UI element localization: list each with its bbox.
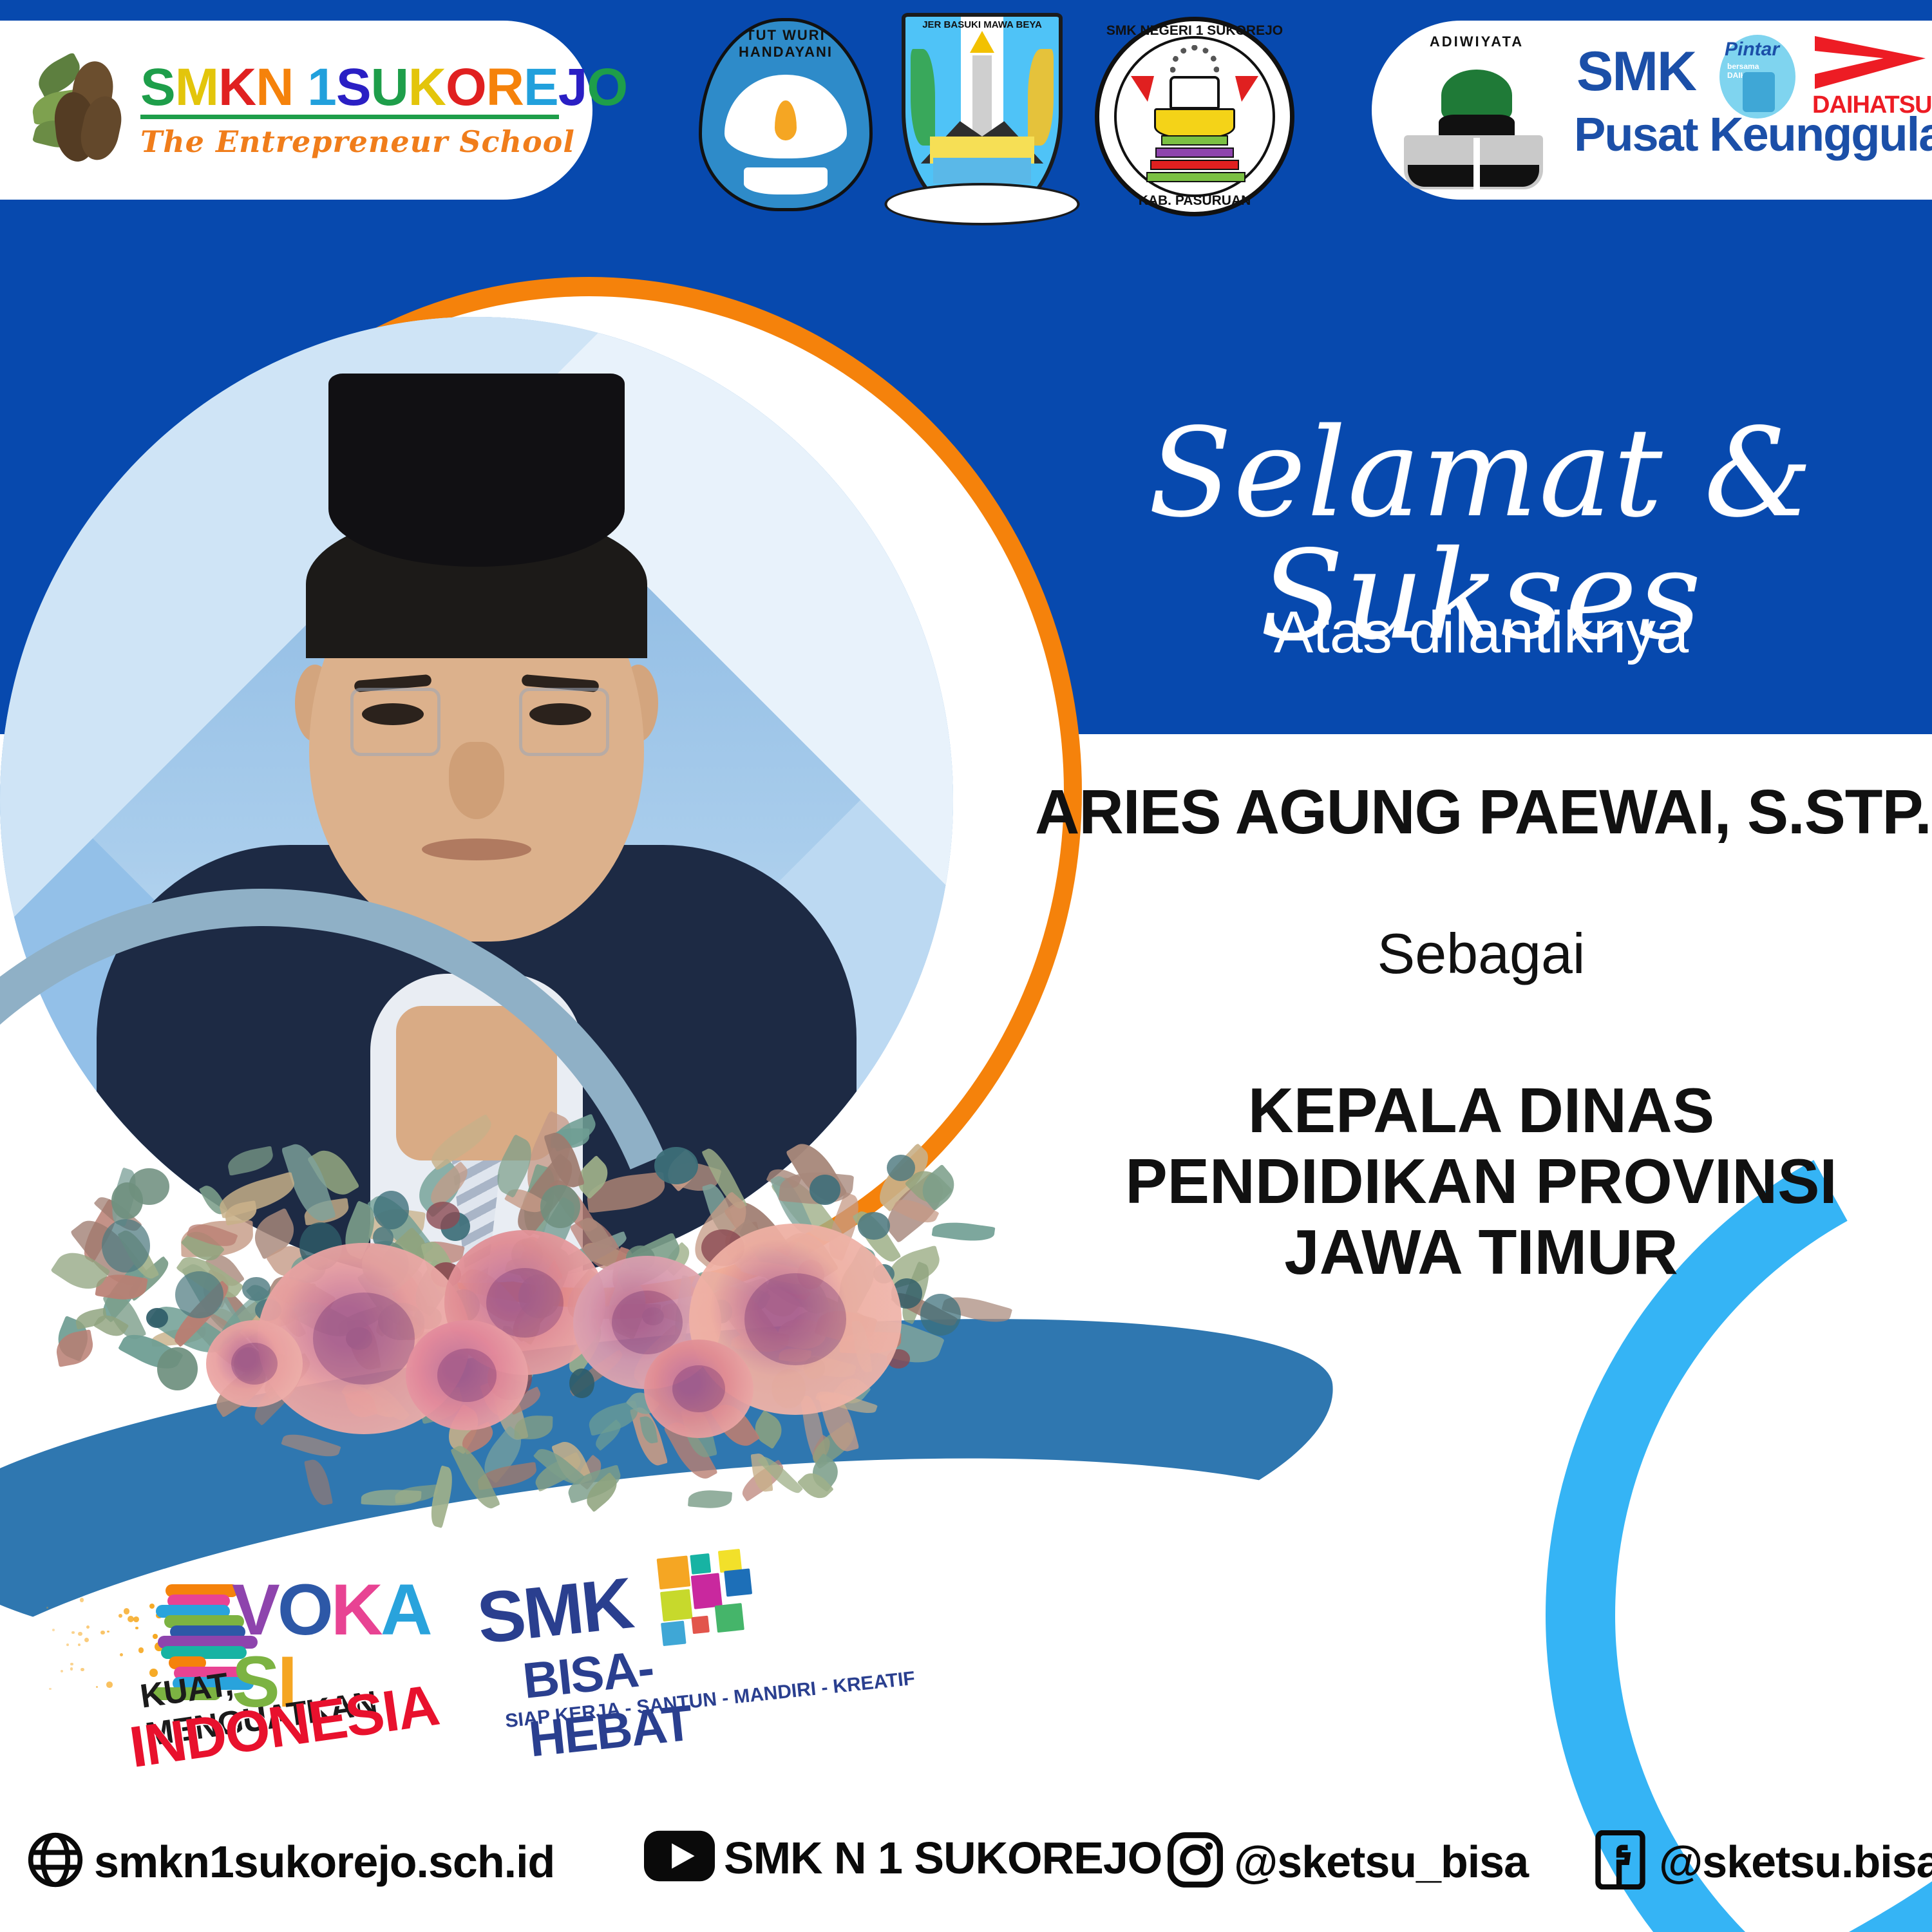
vokasi-letter: V xyxy=(232,1574,278,1646)
berry-shape xyxy=(540,1185,580,1229)
step-stack-icon xyxy=(1146,135,1243,184)
position-line-2: JAWA TIMUR xyxy=(1030,1217,1932,1288)
spk-line2: Pusat Keunggulan xyxy=(1574,107,1932,162)
adiwiyata-emblem: ADIWIYATA xyxy=(1396,31,1557,192)
berry-shape xyxy=(374,1191,409,1229)
floral-bouquet-decoration xyxy=(45,1108,985,1520)
bisahebat-line1: SMK xyxy=(475,1571,635,1651)
berry-shape xyxy=(146,1308,168,1328)
vokasi-kuat-menguatkan-indonesia-logo: VOKASI KUAT, MENGUATKAN INDONESIA xyxy=(45,1571,444,1765)
leaf-shape xyxy=(225,1146,275,1176)
daihatsu-mark-icon xyxy=(1815,36,1926,89)
footer-label: @sketsu_bisa xyxy=(1234,1836,1528,1888)
person-name: ARIES AGUNG PAEWAI, S.STP., M.M. xyxy=(1035,776,1927,848)
school-tagline: The Entrepreneur School xyxy=(140,124,627,159)
facebook-icon xyxy=(1591,1830,1650,1893)
footer-label: SMK N 1 SUKOREJO xyxy=(724,1832,1162,1884)
position-line-1: PENDIDIKAN PROVINSI xyxy=(1030,1146,1932,1217)
footer-item-youtube[interactable]: SMK N 1 SUKOREJO xyxy=(644,1830,1162,1885)
school-name-letter: U xyxy=(371,62,408,113)
youtube-icon xyxy=(644,1830,715,1885)
tablet-icon xyxy=(1743,72,1775,112)
school-name-letter: R xyxy=(486,62,524,113)
footer-label: @sketsu.bisa xyxy=(1659,1836,1932,1888)
school-name-letter: N xyxy=(256,62,293,113)
jatim-ribbon-text: JER BASUKI MAWA BEYA xyxy=(902,19,1063,30)
tut-wuri-ring-text: TUT WURI HANDAYANI xyxy=(699,27,873,61)
berry-shape xyxy=(810,1175,840,1205)
rose-flower xyxy=(406,1320,528,1430)
school-name-letter: O xyxy=(446,62,486,113)
school-name-letter: K xyxy=(408,62,446,113)
footer-label: smkn1sukorejo.sch.id xyxy=(94,1836,554,1888)
smkn-emblem-arc-bottom: KAB. PASURUAN xyxy=(1095,193,1294,209)
school-name-letter: J xyxy=(558,62,587,113)
lightning-icon-left xyxy=(1131,76,1154,102)
footer-item-instagram[interactable]: @sketsu_bisa xyxy=(1166,1830,1528,1893)
berry-shape xyxy=(569,1368,594,1398)
star-icon xyxy=(970,31,994,53)
subtitle-text: Atas dilantiknya xyxy=(1043,599,1919,667)
globe-www-icon xyxy=(26,1830,85,1893)
lightning-icon-right xyxy=(1235,76,1258,102)
position-line-0: KEPALA DINAS xyxy=(1030,1075,1932,1146)
tree-icon xyxy=(1441,70,1512,121)
berry-shape xyxy=(858,1212,890,1240)
pintar-bersama-daihatsu-icon: Pintar bersama DAIHATSU xyxy=(1719,35,1795,118)
leaf-shape xyxy=(303,1457,332,1507)
spk-line1: SMK xyxy=(1577,40,1696,104)
smkn-emblem-arc-top: SMK NEGERI 1 SUKOREJO xyxy=(1095,23,1294,39)
jawa-timur-provincial-emblem: JER BASUKI MAWA BEYA xyxy=(902,13,1063,219)
rose-flower xyxy=(206,1320,303,1407)
school-name: SMKN 1SUKOREJO xyxy=(140,62,627,113)
berry-shape xyxy=(157,1347,198,1390)
school-logo: SMKN 1SUKOREJO The Entrepreneur School xyxy=(19,33,592,188)
adiwiyata-ring-text: ADIWIYATA xyxy=(1396,33,1557,50)
footer-item-facebook[interactable]: @sketsu.bisa xyxy=(1591,1830,1932,1893)
pintar-word: Pintar xyxy=(1725,39,1779,61)
berry-shape xyxy=(175,1271,223,1318)
vokasi-letter: O xyxy=(278,1574,331,1646)
berry-shape xyxy=(102,1219,150,1273)
open-book-icon xyxy=(1154,108,1235,139)
berry-shape xyxy=(920,1294,961,1336)
car-icon xyxy=(1170,76,1220,109)
leaf-shape xyxy=(932,1218,996,1244)
berry-shape xyxy=(426,1202,460,1229)
school-name-letter: M xyxy=(175,62,218,113)
school-name-letter: S xyxy=(140,62,175,113)
leaf-shape xyxy=(688,1488,732,1510)
school-name-letter xyxy=(293,62,307,113)
berry-shape xyxy=(887,1155,916,1181)
school-name-letter: 1 xyxy=(307,62,336,113)
berry-shape xyxy=(111,1182,143,1219)
smk-pusat-keunggulan-logo: SMK Pintar bersama DAIHATSU DAIHATSU Pus… xyxy=(1571,31,1932,192)
tut-wuri-handayani-emblem: TUT WURI HANDAYANI xyxy=(699,18,873,211)
monument-icon xyxy=(972,55,992,138)
instagram-icon xyxy=(1166,1830,1225,1893)
vokasi-letter: K xyxy=(331,1574,381,1646)
smk-negeri-1-sukorejo-emblem: SMK NEGERI 1 SUKOREJO KAB. PASURUAN xyxy=(1095,17,1294,216)
vokasi-letter: A xyxy=(381,1574,430,1646)
footer-item-globe-www[interactable]: smkn1sukorejo.sch.id xyxy=(26,1830,554,1893)
as-label: Sebagai xyxy=(1030,921,1932,987)
leaf-shape xyxy=(281,1428,341,1461)
berry-shape xyxy=(242,1277,270,1301)
leaf-shape xyxy=(361,1488,421,1507)
smk-bisa-hebat-logo: SMK BISA-HEBAT SIAP KERJA - SANTUN - MAN… xyxy=(468,1549,789,1773)
school-name-letter: O xyxy=(587,62,627,113)
rose-flower xyxy=(644,1340,753,1438)
footer-social-bar: smkn1sukorejo.sch.idSMK N 1 SUKOREJO@ske… xyxy=(0,1816,1932,1932)
congratulations-poster: SMKN 1SUKOREJO The Entrepreneur School T… xyxy=(0,0,1932,1932)
school-name-letter: S xyxy=(336,62,371,113)
position-title: KEPALA DINASPENDIDIKAN PROVINSIJAWA TIMU… xyxy=(1030,1075,1932,1287)
school-name-letter: K xyxy=(218,62,256,113)
cocoa-pod-icon xyxy=(32,56,129,166)
songkok-cap xyxy=(328,374,625,567)
book-icon xyxy=(744,167,828,194)
school-name-letter: E xyxy=(524,62,558,113)
